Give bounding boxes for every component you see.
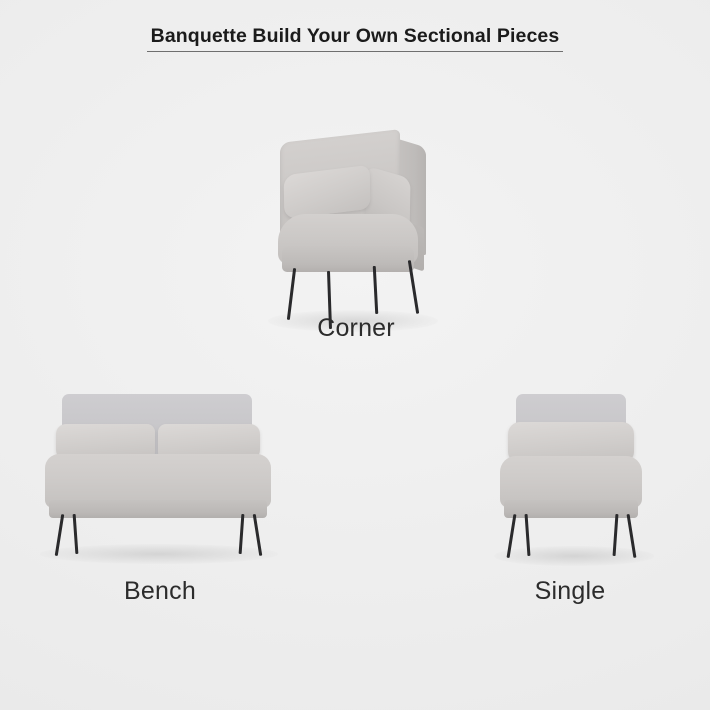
product-comparison-image: Banquette Build Your Own Sectional Piece…	[0, 0, 710, 710]
bench-leg	[253, 514, 262, 556]
bench-leg	[73, 514, 78, 554]
bench-leg	[55, 514, 64, 556]
product-label-single: Single	[470, 577, 670, 606]
product-label-corner: Corner	[256, 314, 456, 343]
single-floor-shadow	[494, 546, 654, 566]
product-bench[interactable]	[40, 388, 280, 568]
single-leg	[627, 514, 636, 558]
single-leg	[525, 514, 530, 556]
single-leg	[613, 514, 618, 556]
corner-leg	[373, 266, 378, 314]
corner-seat-base	[282, 246, 414, 272]
single-leg	[507, 514, 516, 558]
bench-leg	[239, 514, 244, 554]
product-corner[interactable]	[262, 128, 432, 308]
product-label-bench: Bench	[60, 577, 260, 606]
product-single[interactable]	[494, 388, 654, 568]
title-block: Banquette Build Your Own Sectional Piece…	[0, 24, 710, 52]
page-title: Banquette Build Your Own Sectional Piece…	[147, 24, 564, 52]
bench-seat-base	[49, 500, 267, 518]
